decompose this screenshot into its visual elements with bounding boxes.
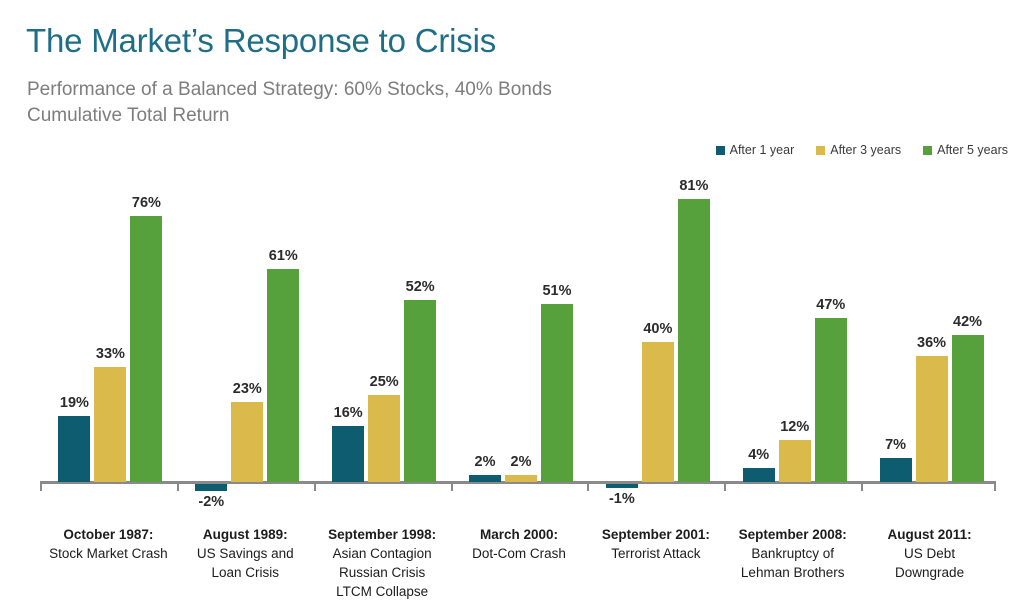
axis-tick-6 [861,484,863,491]
legend-swatch-icon [816,146,825,155]
bar-value-label-0-2: 76% [114,195,178,211]
bar-3-2[interactable] [541,304,573,483]
bar-value-label-4-0: -1% [590,491,654,507]
bar-value-label-5-2: 47% [799,297,863,313]
bar-group-3: 2%2%51% [469,170,573,490]
bar-group-6: 7%36%42% [880,170,984,490]
bar-0-0[interactable] [58,416,90,483]
bar-group-0: 19%33%76% [58,170,162,490]
category-date: October 1987: [40,525,177,544]
category-date: March 2000: [451,525,588,544]
bar-6-0[interactable] [880,458,912,483]
bar-1-0[interactable] [195,484,227,491]
category-date: September 1998: [314,525,451,544]
legend-label: After 1 year [730,143,795,157]
bar-group-1: -2%23%61% [195,170,299,490]
bar-5-0[interactable] [743,468,775,482]
axis-tick-1 [177,484,179,491]
bar-6-1[interactable] [916,356,948,482]
bar-6-2[interactable] [952,335,984,482]
axis-tick-5 [724,484,726,491]
bar-group-5: 4%12%47% [743,170,847,490]
category-date: August 2011: [861,525,998,544]
bar-3-1[interactable] [505,475,537,482]
slide-canvas: The Market’s Response to Crisis Performa… [0,0,1026,607]
bar-1-1[interactable] [231,402,263,483]
chart-plot-area: 19%33%76%-2%23%61%16%25%52%2%2%51%-1%40%… [40,170,998,490]
bar-2-0[interactable] [332,426,364,482]
axis-tick-2 [314,484,316,491]
legend-item-2[interactable]: After 5 years [923,143,1008,157]
page-subtitle: Performance of a Balanced Strategy: 60% … [27,77,552,129]
category-label-6: August 2011:US Debt Downgrade [861,525,998,582]
bar-1-2[interactable] [267,269,299,483]
category-date: September 2008: [724,525,861,544]
bar-3-0[interactable] [469,475,501,482]
category-label-5: September 2008:Bankruptcy of Lehman Brot… [724,525,861,582]
category-date: September 2001: [587,525,724,544]
category-axis-labels: October 1987:Stock Market CrashAugust 19… [40,525,998,605]
bar-5-2[interactable] [815,318,847,483]
bar-4-0[interactable] [606,484,638,488]
legend-label: After 3 years [830,143,901,157]
bar-value-label-3-2: 51% [525,283,589,299]
category-description: US Savings and Loan Crisis [177,544,314,582]
category-description: US Debt Downgrade [861,544,998,582]
category-label-1: August 1989:US Savings and Loan Crisis [177,525,314,582]
axis-tick-0 [40,484,42,491]
legend-item-0[interactable]: After 1 year [716,143,795,157]
chart-legend: After 1 yearAfter 3 yearsAfter 5 years [716,143,1008,157]
bar-value-label-4-2: 81% [662,178,726,194]
category-description: Bankruptcy of Lehman Brothers [724,544,861,582]
bar-value-label-2-2: 52% [388,279,452,295]
bar-0-2[interactable] [130,216,162,482]
category-description: Terrorist Attack [587,544,724,563]
axis-tick-3 [451,484,453,491]
legend-label: After 5 years [937,143,1008,157]
category-description: Asian Contagion Russian Crisis LTCM Coll… [314,544,451,601]
bar-value-label-6-2: 42% [936,314,1000,330]
bar-value-label-1-0: -2% [179,494,243,510]
category-label-0: October 1987:Stock Market Crash [40,525,177,563]
category-label-3: March 2000:Dot-Com Crash [451,525,588,563]
page-title: The Market’s Response to Crisis [26,22,496,60]
bar-group-2: 16%25%52% [332,170,436,490]
bar-5-1[interactable] [779,440,811,482]
category-description: Stock Market Crash [40,544,177,563]
category-date: August 1989: [177,525,314,544]
bar-2-1[interactable] [368,395,400,483]
legend-item-1[interactable]: After 3 years [816,143,901,157]
legend-swatch-icon [716,146,725,155]
bar-4-2[interactable] [678,199,710,483]
bar-2-2[interactable] [404,300,436,482]
bar-0-1[interactable] [94,367,126,483]
bar-value-label-1-2: 61% [251,248,315,264]
axis-tick-7 [994,484,996,491]
bar-group-4: -1%40%81% [606,170,710,490]
legend-swatch-icon [923,146,932,155]
bar-4-1[interactable] [642,342,674,482]
category-label-4: September 2001:Terrorist Attack [587,525,724,563]
category-description: Dot-Com Crash [451,544,588,563]
category-label-2: September 1998:Asian Contagion Russian C… [314,525,451,601]
axis-tick-4 [587,484,589,491]
